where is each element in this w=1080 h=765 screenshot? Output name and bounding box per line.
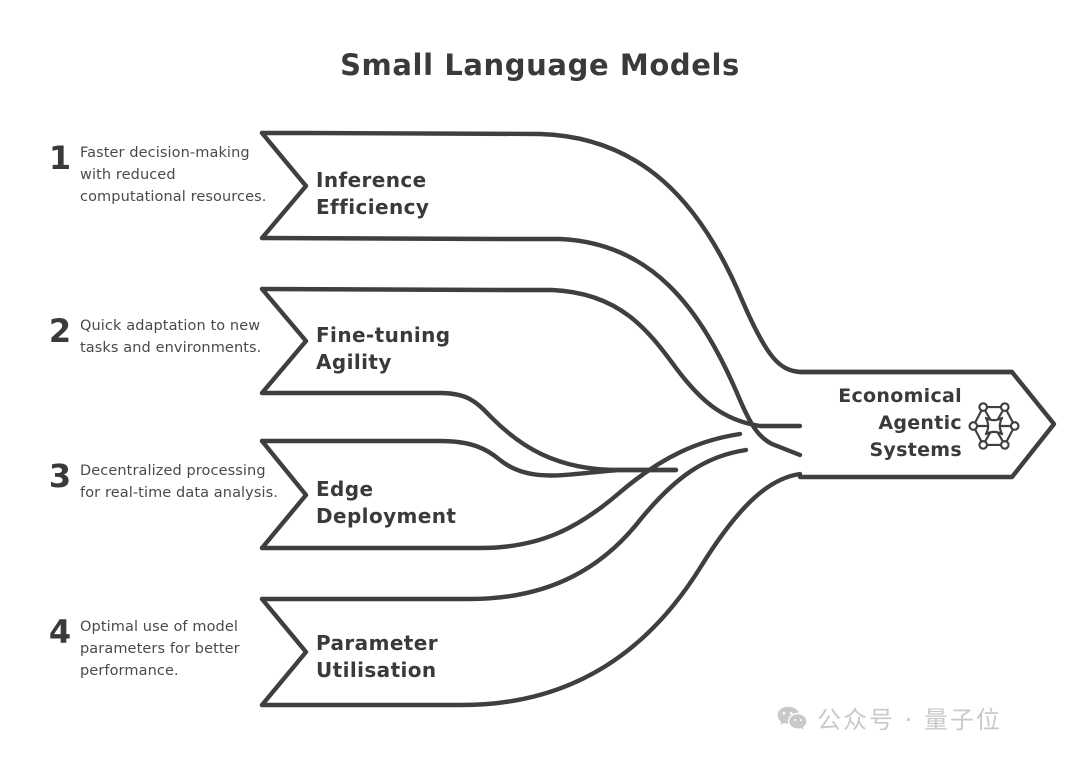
benefit-description-3: Decentralized processing for real-time d… (80, 460, 285, 504)
benefit-item-1: 1 Faster decision-making with reduced co… (40, 142, 285, 208)
benefit-number-3: 3 (40, 460, 80, 492)
stage-label-inference-efficiency: Inference Efficiency (316, 167, 429, 221)
benefit-number-1: 1 (40, 142, 80, 174)
outcome-label: Economical Agentic Systems (800, 383, 962, 464)
watermark: 公众号 · 量子位 (776, 700, 1002, 735)
ribbon-path-finetuning-agility-lower (262, 393, 676, 470)
benefit-item-2: 2 Quick adaptation to new tasks and envi… (40, 315, 285, 359)
benefit-item-3: 3 Decentralized processing for real-time… (40, 460, 285, 504)
benefit-description-4: Optimal use of model parameters for bett… (80, 616, 285, 682)
wechat-icon (776, 705, 808, 731)
ribbon-path-edge-deployment (262, 441, 676, 476)
stage-label-edge-deployment: Edge Deployment (316, 476, 456, 530)
benefit-number-4: 4 (40, 616, 80, 648)
hexagon-network-icon (967, 399, 1021, 453)
diagram-canvas: Small Language Models 1 Faster decision-… (0, 0, 1080, 765)
watermark-text: 公众号 · 量子位 (817, 700, 1002, 735)
benefit-description-2: Quick adaptation to new tasks and enviro… (80, 315, 285, 359)
benefit-item-4: 4 Optimal use of model parameters for be… (40, 616, 285, 682)
stage-label-parameter-utilisation: Parameter Utilisation (316, 630, 438, 684)
benefit-number-2: 2 (40, 315, 80, 347)
stage-label-finetuning-agility: Fine-tuning Agility (316, 322, 450, 376)
benefit-description-1: Faster decision-making with reduced comp… (80, 142, 285, 208)
